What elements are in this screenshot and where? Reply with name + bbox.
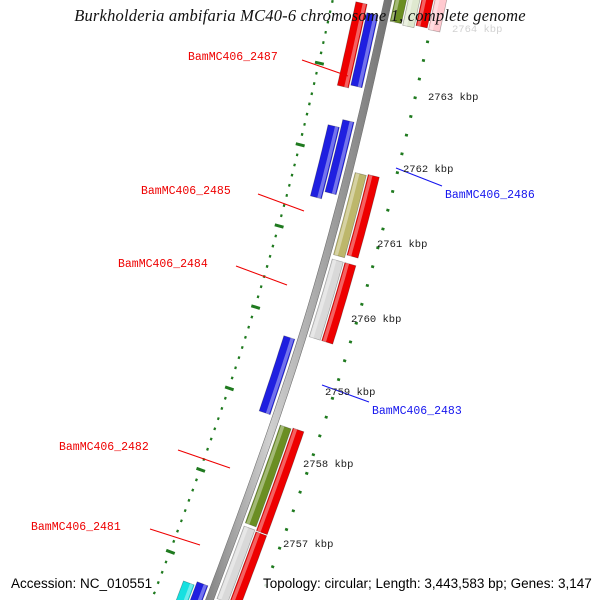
genome-summary-status: Topology: circular; Length: 3,443,583 bp… (261, 575, 594, 592)
tick-mark-icon (272, 246, 274, 247)
tick-mark-icon (386, 210, 389, 211)
tick-mark-icon (266, 266, 268, 267)
tick-mark-icon (305, 473, 308, 474)
tick-mark-icon (195, 480, 197, 481)
tick-mark-icon (225, 387, 234, 390)
gene-label-bammc406_2483[interactable]: BamMC406_2483 (372, 405, 462, 418)
tick-mark-icon (244, 337, 246, 338)
tick-mark-icon (286, 195, 288, 196)
tick-mark-icon (315, 62, 324, 64)
tick-mark-icon (180, 521, 182, 522)
label-leader-line (150, 529, 200, 545)
tick-mark-icon (322, 42, 324, 43)
tick-mark-icon (320, 53, 322, 54)
genome-map-canvas (0, 0, 600, 600)
tick-mark-icon (165, 562, 167, 563)
tick-mark-icon (318, 435, 321, 436)
tick-mark-icon (308, 104, 310, 105)
backbone-track (202, 0, 396, 600)
tick-mark-icon (312, 454, 315, 455)
tick-mark-icon (153, 593, 155, 594)
tick-mark-icon (235, 368, 237, 369)
page-title: Burkholderia ambifaria MC40-6 chromosome… (0, 6, 600, 26)
gene-label-bammc406_2482[interactable]: BamMC406_2482 (59, 441, 149, 454)
tick-mark-icon (166, 550, 175, 553)
tick-mark-icon (366, 285, 369, 286)
tick-mark-icon (288, 185, 290, 186)
tick-mark-icon (313, 83, 315, 84)
tick-mark-icon (418, 79, 421, 80)
tick-mark-group (153, 0, 437, 600)
tick-mark-icon (192, 490, 194, 491)
genome-map-viewer: Burkholderia ambifaria MC40-6 chromosome… (0, 0, 600, 600)
tick-mark-icon (257, 297, 259, 298)
tick-mark-icon (371, 266, 374, 267)
tick-mark-icon (251, 317, 253, 318)
label-leader-line (178, 450, 230, 468)
tick-mark-icon (280, 215, 282, 216)
tick-mark-icon (349, 342, 352, 343)
tick-mark-icon (217, 418, 219, 419)
tick-mark-icon (241, 347, 243, 348)
tick-mark-icon (296, 144, 305, 146)
tick-mark-icon (251, 306, 260, 309)
tick-mark-icon (315, 73, 317, 74)
gene-label-bammc406_2484[interactable]: BamMC406_2484 (118, 258, 208, 271)
tick-mark-icon (382, 229, 385, 230)
accession-status: Accession: NC_010551 (9, 575, 154, 592)
tick-mark-icon (337, 379, 340, 380)
tick-mark-icon (426, 42, 429, 43)
tick-mark-icon (214, 429, 216, 430)
tick-mark-icon (409, 116, 412, 117)
tick-mark-icon (275, 225, 284, 227)
gene-label-bammc406_2486[interactable]: BamMC406_2486 (445, 189, 535, 202)
tick-mark-icon (414, 97, 417, 98)
tick-mark-icon (177, 531, 179, 532)
coordinate-label: 2761 kbp (377, 239, 427, 251)
tick-mark-icon (311, 94, 313, 95)
tick-mark-icon (292, 510, 295, 511)
tick-mark-icon (173, 541, 175, 542)
tick-mark-icon (269, 256, 271, 257)
tick-mark-icon (271, 566, 274, 567)
gene-label-bammc406_2485[interactable]: BamMC406_2485 (141, 185, 231, 198)
tick-mark-icon (184, 510, 186, 511)
tick-mark-icon (210, 439, 212, 440)
label-leader-line (236, 266, 287, 285)
label-leader-line (258, 194, 304, 211)
tick-mark-icon (396, 172, 399, 173)
coordinate-label: 2759 kbp (325, 387, 375, 399)
tick-mark-icon (291, 175, 293, 176)
tick-mark-icon (231, 378, 233, 379)
gene-label-bammc406_2487[interactable]: BamMC406_2487 (188, 51, 278, 64)
tick-mark-icon (275, 236, 277, 237)
coordinate-label: 2763 kbp (428, 92, 478, 104)
tick-mark-icon (299, 492, 302, 493)
tick-mark-icon (391, 191, 394, 192)
tick-mark-icon (285, 529, 288, 530)
tick-mark-icon (405, 135, 408, 136)
tick-mark-icon (422, 60, 425, 61)
tick-mark-icon (161, 572, 163, 573)
tick-mark-icon (331, 1, 333, 2)
tick-mark-icon (224, 398, 226, 399)
tick-mark-icon (248, 327, 250, 328)
coordinate-label: 2758 kbp (303, 459, 353, 471)
tick-mark-icon (238, 357, 240, 358)
label-leader-lines (150, 60, 442, 545)
tick-mark-icon (278, 548, 281, 549)
tick-mark-icon (283, 205, 285, 206)
tick-mark-icon (296, 155, 298, 156)
tick-mark-icon (260, 286, 262, 287)
tick-mark-icon (157, 582, 159, 583)
tick-mark-icon (188, 500, 190, 501)
tick-mark-icon (304, 124, 306, 125)
coordinate-label: 2762 kbp (403, 164, 453, 176)
tick-mark-icon (343, 360, 346, 361)
tick-mark-icon (197, 468, 206, 471)
tick-mark-icon (294, 165, 296, 166)
tick-mark-icon (301, 134, 303, 135)
tick-mark-icon (401, 154, 404, 155)
tick-mark-icon (325, 417, 328, 418)
tick-mark-icon (306, 114, 308, 115)
tick-mark-icon (207, 449, 209, 450)
tick-mark-icon (360, 304, 363, 305)
gene-label-bammc406_2481[interactable]: BamMC406_2481 (31, 521, 121, 534)
genome-backbone (202, 0, 396, 600)
coordinate-label: 2757 kbp (283, 539, 333, 551)
tick-mark-icon (221, 408, 223, 409)
coordinate-label: 2760 kbp (351, 314, 401, 326)
